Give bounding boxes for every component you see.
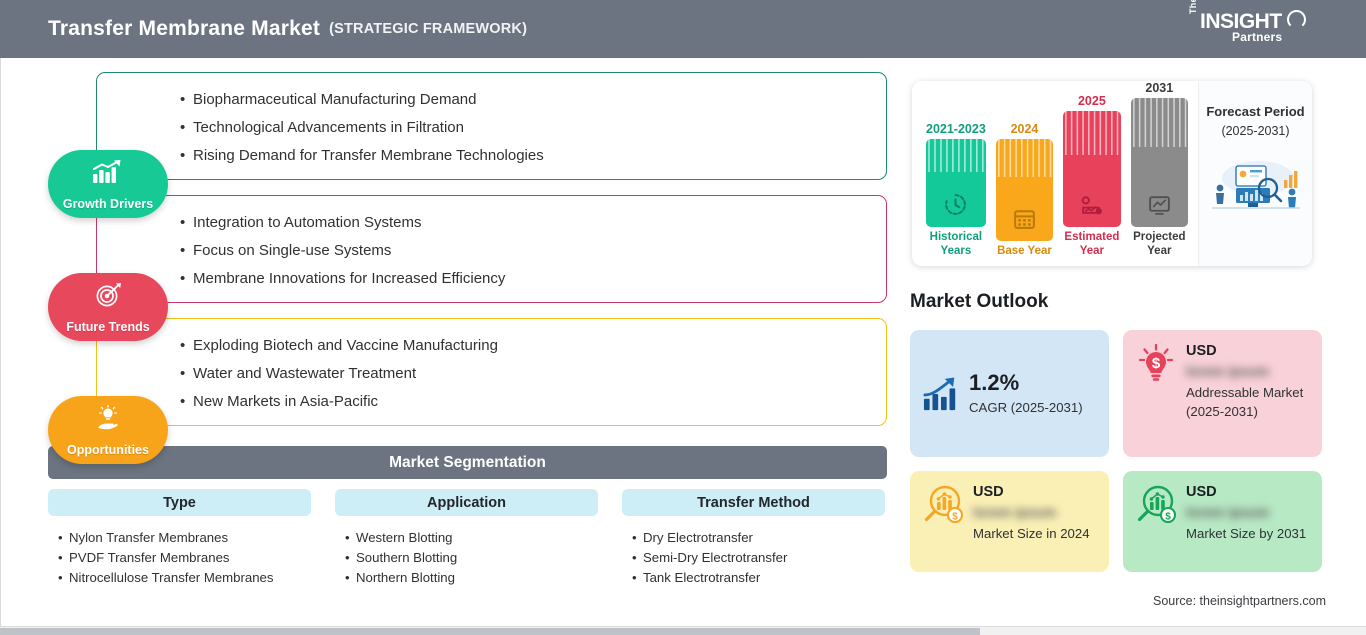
lightbulb-dollar-icon: $ [1135, 343, 1177, 385]
growth-bars-icon [922, 376, 960, 412]
list-item: Dry Electrotransfer [632, 528, 885, 548]
addressable-market-card: $ USD lorem ipsum Addressable Market (20… [1123, 330, 1322, 457]
bar-shape [1063, 111, 1120, 227]
left-column: Biopharmaceutical Manufacturing Demand T… [0, 58, 900, 635]
cagr-card: 1.2% CAGR (2025-2031) [910, 330, 1109, 457]
future-trends-badge: Future Trends [48, 273, 168, 341]
addressable-market-body: USD lorem ipsum Addressable Market (2025… [1186, 343, 1310, 421]
timeline-bar-base: 2024 [996, 81, 1053, 258]
opportunities-list: Exploding Biotech and Vaccine Manufactur… [97, 319, 886, 417]
opportunities-label: Opportunities [67, 443, 149, 457]
forecast-gear-icon [1079, 192, 1104, 217]
timeline-bars: 2021-2023 Historical Y [912, 81, 1198, 266]
currency-label: USD [973, 484, 1097, 500]
column-header: Type [48, 489, 311, 516]
timeline-caption: Estimated Year [1063, 231, 1120, 258]
bar-shape [926, 139, 986, 227]
column-header: Application [335, 489, 598, 516]
chart-monitor-icon [1147, 192, 1172, 217]
segmentation-column-transfer-method: Transfer Method Dry Electrotransfer Semi… [622, 489, 885, 588]
source-attribution: Source: theinsightpartners.com [1153, 594, 1326, 608]
timeline-year: 2021-2023 [926, 122, 986, 136]
logo-partners-text: Partners [1232, 30, 1282, 44]
timeline-caption: Projected Year [1131, 231, 1188, 258]
redacted-value: lorem ipsum [1186, 504, 1310, 521]
opportunities-badge: Opportunities [48, 396, 168, 464]
page-header: Transfer Membrane Market (STRATEGIC FRAM… [0, 0, 1366, 58]
timeline-bar-historical: 2021-2023 Historical Y [926, 81, 986, 258]
column-list: Western Blotting Southern Blotting North… [335, 516, 598, 588]
logo-the-text: The [1188, 0, 1198, 14]
timeline-caption: Historical Years [926, 231, 986, 258]
forecast-period-title: Forecast Period [1206, 103, 1304, 121]
stripe-pattern-icon [1063, 111, 1120, 155]
insight-partners-logo: The INSIGHT Partners [1188, 8, 1308, 50]
cagr-label: CAGR (2025-2031) [969, 398, 1097, 417]
page-title: Transfer Membrane Market [48, 17, 320, 41]
list-item: Exploding Biotech and Vaccine Manufactur… [193, 332, 886, 360]
opportunities-panel: Exploding Biotech and Vaccine Manufactur… [96, 318, 887, 426]
currency-label: USD [1186, 343, 1310, 359]
list-item: New Markets in Asia-Pacific [193, 388, 886, 416]
timeline-year: 2031 [1145, 81, 1173, 95]
list-item: Semi-Dry Electrotransfer [632, 548, 885, 568]
calendar-icon [1012, 206, 1037, 231]
redacted-value: lorem ipsum [973, 504, 1097, 521]
right-column: 2021-2023 Historical Y [900, 58, 1366, 635]
market-segmentation-header: Market Segmentation [48, 446, 887, 479]
lightbulb-hand-icon [91, 405, 125, 431]
market-size-2031-card: $ USD lorem ipsum Market Size by 2031 [1123, 471, 1322, 572]
list-item: PVDF Transfer Membranes [58, 548, 311, 568]
logo-arc-icon [1287, 10, 1306, 29]
market-size-2024-label: Market Size in 2024 [973, 524, 1097, 543]
page-subtitle: (STRATEGIC FRAMEWORK) [329, 21, 527, 37]
column-header: Transfer Method [622, 489, 885, 516]
list-item: Nylon Transfer Membranes [58, 528, 311, 548]
stripe-pattern-icon [1131, 98, 1188, 147]
future-trends-panel: Integration to Automation Systems Focus … [96, 195, 887, 303]
market-size-2031-label: Market Size by 2031 [1186, 524, 1310, 543]
list-item: Water and Wastewater Treatment [193, 360, 886, 388]
timeline-year: 2024 [1011, 122, 1039, 136]
cagr-card-body: 1.2% CAGR (2025-2031) [969, 370, 1097, 417]
segmentation-columns: Type Nylon Transfer Membranes PVDF Trans… [48, 489, 887, 588]
segmentation-column-type: Type Nylon Transfer Membranes PVDF Trans… [48, 489, 311, 588]
growth-drivers-badge: Growth Drivers [48, 150, 168, 218]
timeline-bar-estimated: 2025 [1063, 81, 1120, 258]
stripe-pattern-icon [926, 139, 986, 172]
outlook-cards: 1.2% CAGR (2025-2031) $ USD [910, 330, 1322, 572]
timeline-bar-projected: 2031 Pr [1131, 81, 1188, 258]
scrollbar-thumb[interactable] [0, 628, 980, 635]
horizontal-scrollbar[interactable] [0, 626, 1366, 635]
growth-drivers-label: Growth Drivers [63, 197, 153, 211]
timeline-caption: Base Year [997, 245, 1052, 259]
list-item: Nitrocellulose Transfer Membranes [58, 568, 311, 588]
list-item: Tank Electrotransfer [632, 568, 885, 588]
column-list: Dry Electrotransfer Semi-Dry Electrotran… [622, 516, 885, 588]
infographic-page: Transfer Membrane Market (STRATEGIC FRAM… [0, 0, 1366, 635]
list-item: Rising Demand for Transfer Membrane Tech… [193, 142, 886, 170]
segmentation-column-application: Application Western Blotting Southern Bl… [335, 489, 598, 588]
timeline-year: 2025 [1078, 94, 1106, 108]
market-size-2024-body: USD lorem ipsum Market Size in 2024 [973, 484, 1097, 543]
magnifier-bars-dollar-icon: $ [922, 484, 964, 526]
future-trends-label: Future Trends [66, 320, 149, 334]
market-outlook-title: Market Outlook [910, 291, 1048, 313]
svg-text:$: $ [1165, 511, 1171, 522]
list-item: Northern Blotting [345, 568, 598, 588]
clock-history-icon [943, 192, 968, 217]
addressable-market-label: Addressable Market (2025-2031) [1186, 383, 1310, 421]
stripe-pattern-icon [996, 139, 1053, 178]
redacted-value: lorem ipsum [1186, 363, 1310, 380]
list-item: Membrane Innovations for Increased Effic… [193, 265, 886, 293]
list-item: Biopharmaceutical Manufacturing Demand [193, 86, 886, 114]
forecast-period-panel: Forecast Period (2025-2031) [1198, 81, 1312, 266]
forecast-period-range: (2025-2031) [1221, 124, 1289, 138]
target-dart-icon [91, 282, 125, 308]
list-item: Integration to Automation Systems [193, 209, 886, 237]
bar-chart-arrow-icon [91, 159, 125, 185]
growth-drivers-panel: Biopharmaceutical Manufacturing Demand T… [96, 72, 887, 180]
market-size-2024-card: $ USD lorem ipsum Market Size in 2024 [910, 471, 1109, 572]
currency-label: USD [1186, 484, 1310, 500]
future-trends-list: Integration to Automation Systems Focus … [97, 196, 886, 294]
svg-text:$: $ [1152, 355, 1161, 372]
growth-drivers-list: Biopharmaceutical Manufacturing Demand T… [97, 73, 886, 171]
bar-shape [1131, 98, 1188, 227]
market-size-2031-body: USD lorem ipsum Market Size by 2031 [1186, 484, 1310, 543]
magnifier-bars-dollar-icon: $ [1135, 484, 1177, 526]
svg-text:$: $ [952, 511, 958, 522]
list-item: Focus on Single-use Systems [193, 237, 886, 265]
column-list: Nylon Transfer Membranes PVDF Transfer M… [48, 516, 311, 588]
forecast-timeline-chart: 2021-2023 Historical Y [912, 81, 1312, 266]
list-item: Western Blotting [345, 528, 598, 548]
analytics-illustration [1206, 152, 1306, 214]
cagr-value: 1.2% [969, 370, 1097, 396]
bar-shape [996, 139, 1053, 241]
list-item: Southern Blotting [345, 548, 598, 568]
list-item: Technological Advancements in Filtration [193, 114, 886, 142]
